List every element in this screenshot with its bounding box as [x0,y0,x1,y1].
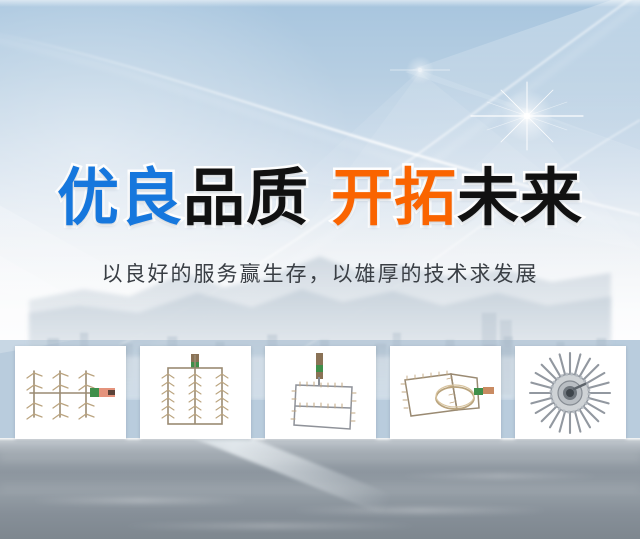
ground-streak-4 [120,524,420,528]
ground-band-2 [0,484,640,492]
product-card-1[interactable] [15,346,126,439]
subtitle: 以良好的服务赢生存，以雄厚的技术求发展 [0,258,640,288]
product-card-2[interactable] [140,346,251,439]
double-row-rack-icon [152,352,238,434]
ground-band-1 [0,452,640,462]
promo-banner: 优良品质开拓未来 以良好的服务赢生存，以雄厚的技术求发展 [0,0,640,539]
headline-segment-4: 未来 [457,161,583,234]
product-card-list [0,346,640,439]
frame-rack-icon [280,351,360,435]
product-card-3[interactable] [265,346,376,439]
ground-surface [0,438,640,539]
ground-streak-3 [400,474,600,478]
headline-segment-1: 优良 [57,161,183,234]
headline: 优良品质开拓未来 [0,163,640,233]
star-burst-rack-icon [527,350,613,436]
ground-streak-1 [30,498,250,503]
comb-rack-icon [20,357,120,429]
headline-segment-3: 开拓 [331,161,457,234]
product-card-5[interactable] [515,346,626,439]
ground-diagonal-streak [78,438,392,515]
product-card-4[interactable] [390,346,501,439]
ring-frame-rack-icon [395,362,495,424]
headline-segment-2: 品质 [183,161,309,234]
ground-streak-2 [290,508,550,513]
